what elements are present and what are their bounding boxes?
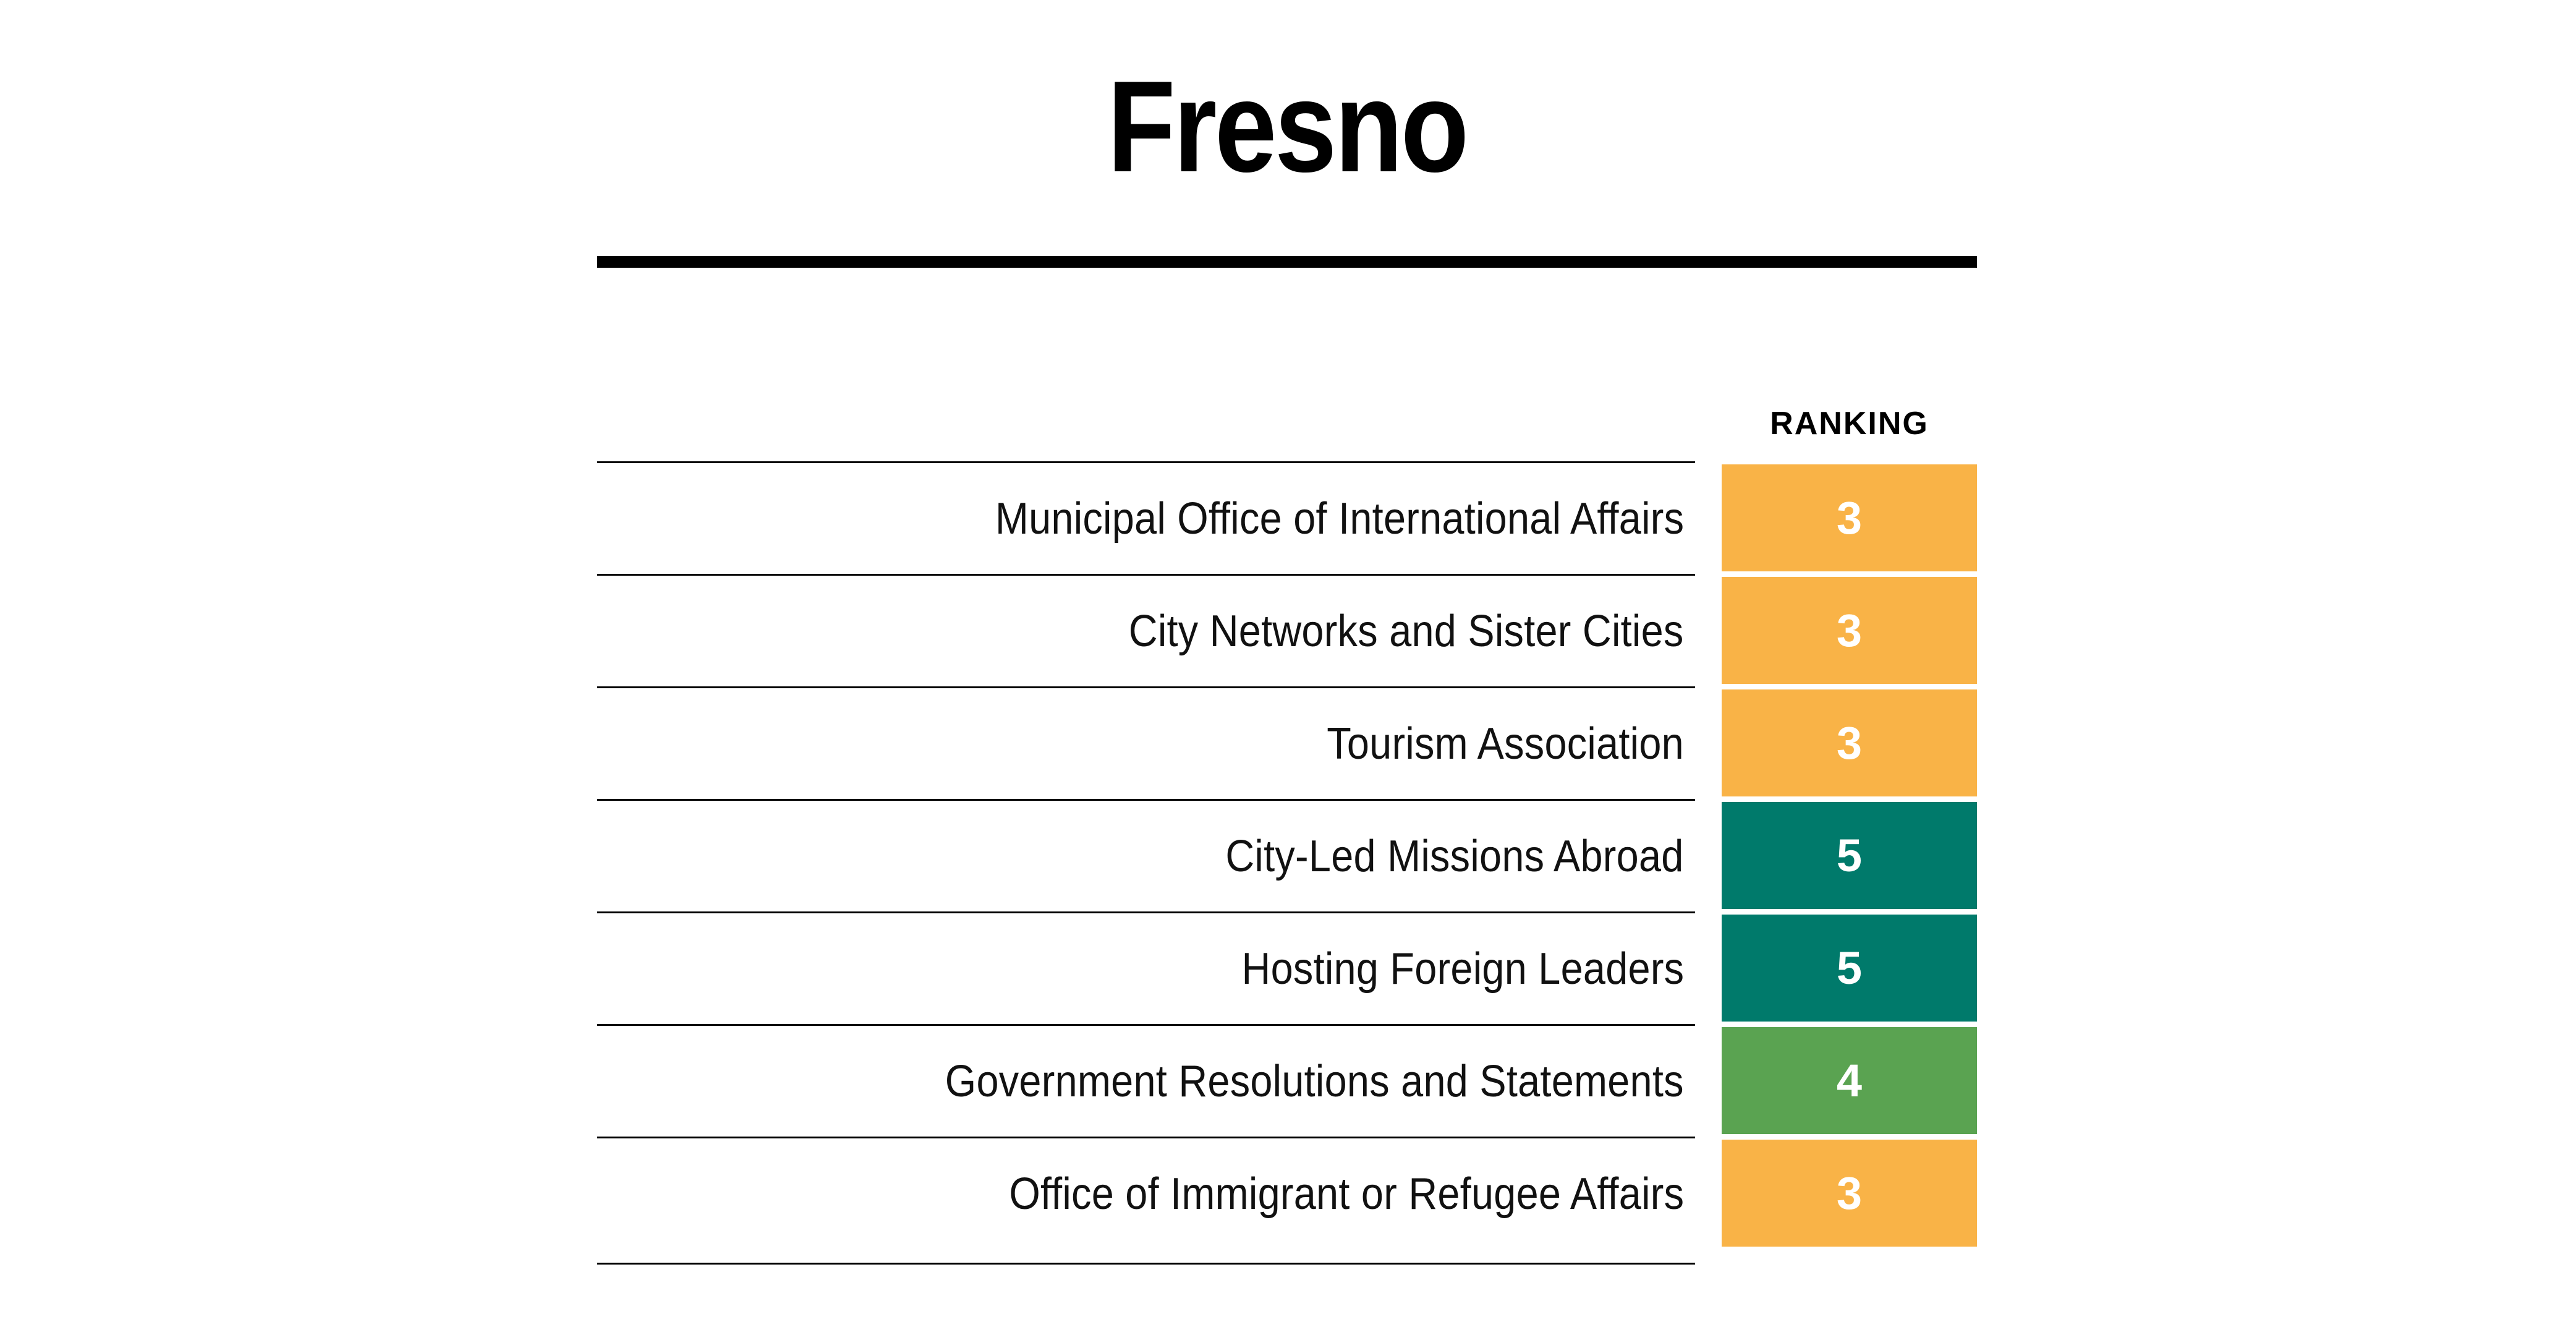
indicator-label: City Networks and Sister Cities bbox=[1129, 609, 1684, 654]
indicator-label: Hosting Foreign Leaders bbox=[1241, 947, 1684, 991]
ranking-value: 3 bbox=[1837, 495, 1862, 541]
indicator-label: Tourism Association bbox=[1327, 722, 1684, 766]
ranking-swatch: 5 bbox=[1722, 802, 1977, 909]
indicator-label-cell: Hosting Foreign Leaders bbox=[597, 911, 1695, 1024]
indicator-label: City-Led Missions Abroad bbox=[1226, 834, 1684, 879]
indicator-label-cell: City-Led Missions Abroad bbox=[597, 799, 1695, 911]
indicator-label-cell: Government Resolutions and Statements bbox=[597, 1024, 1695, 1137]
ranking-value: 5 bbox=[1837, 833, 1862, 879]
ranking-value: 5 bbox=[1837, 945, 1862, 991]
page-title: Fresno bbox=[694, 62, 1881, 192]
indicator-label: Municipal Office of International Affair… bbox=[995, 497, 1684, 541]
table-row: Hosting Foreign Leaders5 bbox=[597, 911, 1977, 1024]
ranking-table: Municipal Office of International Affair… bbox=[597, 461, 1977, 1263]
table-row: Municipal Office of International Affair… bbox=[597, 461, 1977, 574]
ranking-value: 3 bbox=[1837, 1171, 1862, 1216]
infographic-canvas: Fresno RANKING Municipal Office of Inter… bbox=[0, 0, 2576, 1327]
table-bottom-rule bbox=[597, 1263, 1695, 1265]
ranking-swatch: 3 bbox=[1722, 1140, 1977, 1247]
title-divider-rule bbox=[597, 256, 1977, 268]
ranking-swatch: 4 bbox=[1722, 1027, 1977, 1134]
ranking-swatch: 3 bbox=[1722, 689, 1977, 796]
table-row: Government Resolutions and Statements4 bbox=[597, 1024, 1977, 1137]
ranking-value: 3 bbox=[1837, 720, 1862, 766]
table-row: Tourism Association3 bbox=[597, 686, 1977, 799]
ranking-value: 3 bbox=[1837, 608, 1862, 654]
table-row: City-Led Missions Abroad5 bbox=[597, 799, 1977, 911]
ranking-swatch: 3 bbox=[1722, 577, 1977, 684]
indicator-label-cell: Tourism Association bbox=[597, 686, 1695, 799]
indicator-label-cell: Municipal Office of International Affair… bbox=[597, 461, 1695, 574]
table-row: City Networks and Sister Cities3 bbox=[597, 574, 1977, 686]
indicator-label-cell: Office of Immigrant or Refugee Affairs bbox=[597, 1137, 1695, 1249]
indicator-label: Office of Immigrant or Refugee Affairs bbox=[1009, 1172, 1684, 1216]
ranking-swatch: 5 bbox=[1722, 915, 1977, 1022]
indicator-label-cell: City Networks and Sister Cities bbox=[597, 574, 1695, 686]
ranking-swatch: 3 bbox=[1722, 464, 1977, 571]
ranking-value: 4 bbox=[1837, 1058, 1862, 1104]
ranking-column-header: RANKING bbox=[1722, 405, 1977, 442]
indicator-label: Government Resolutions and Statements bbox=[945, 1059, 1684, 1104]
table-row: Office of Immigrant or Refugee Affairs3 bbox=[597, 1137, 1977, 1249]
